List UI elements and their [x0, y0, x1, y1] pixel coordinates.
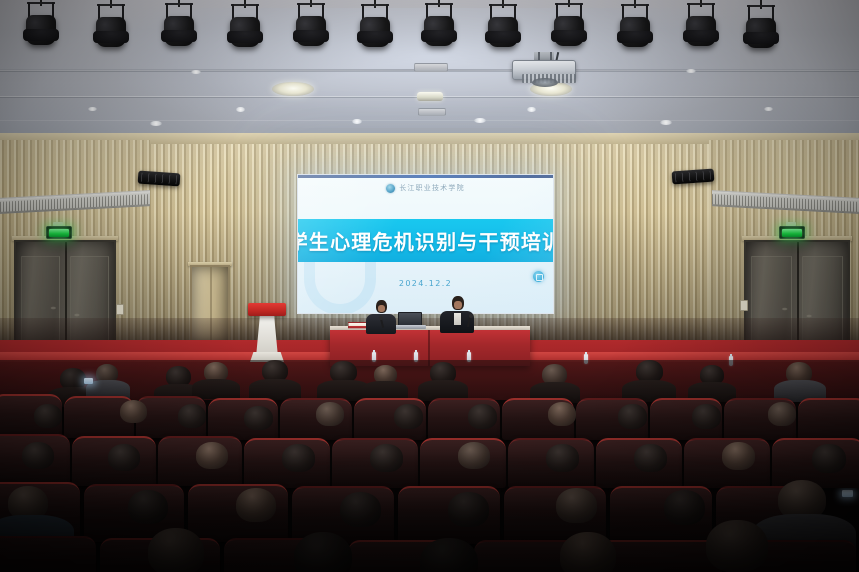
auditorium-photo: 长江职业技术学院 学生心理危机识别与干预培训 2024.12.2 — [0, 0, 859, 572]
audience-member — [706, 520, 768, 572]
light-bar — [621, 4, 649, 6]
presenter-laptop — [398, 312, 422, 326]
audience-member — [192, 379, 240, 399]
exit-sign-glow — [49, 229, 69, 237]
audience-member — [34, 404, 62, 428]
light-hood — [293, 30, 329, 42]
light-bar — [489, 4, 517, 6]
speaker-face — [454, 301, 462, 309]
projection-screen: 长江职业技术学院 学生心理危机识别与干预培训 2024.12.2 — [297, 174, 554, 314]
light-bar — [97, 4, 125, 6]
audience-member — [128, 490, 168, 524]
projector-lens — [532, 78, 558, 87]
light-hood — [551, 30, 587, 42]
audience-member — [22, 442, 54, 469]
stage-spotlight — [356, 4, 394, 52]
microphone-head — [379, 316, 383, 320]
light-hood — [227, 31, 263, 43]
ceiling-vent — [418, 108, 446, 116]
stage-spotlight — [682, 3, 720, 51]
presentation-slide: 长江职业技术学院 学生心理危机识别与干预培训 2024.12.2 — [298, 175, 553, 313]
audience-member — [340, 492, 381, 527]
light-bar — [297, 3, 325, 5]
stage-spotlight — [616, 4, 654, 52]
audience-member — [458, 442, 490, 469]
ceiling-downlight — [236, 107, 245, 112]
audience-member — [634, 444, 667, 472]
light-hood — [421, 30, 457, 42]
emergency-exit-sign-right — [779, 226, 805, 239]
screen-glare — [298, 175, 553, 313]
ceiling-downlight — [474, 118, 486, 123]
light-bar — [425, 3, 453, 5]
ceiling-downlight — [660, 120, 672, 125]
laptop-base — [394, 325, 426, 329]
audience-member — [236, 488, 276, 522]
audience-seat — [600, 540, 722, 572]
ceiling-vent — [414, 63, 448, 72]
audience-member — [768, 402, 796, 426]
speaker-face — [378, 305, 385, 312]
wall-switch[interactable] — [116, 304, 124, 315]
ceiling-projector — [508, 52, 580, 82]
audience-member — [370, 444, 403, 472]
audience-member — [244, 406, 273, 430]
audience-member — [618, 404, 647, 429]
stage-spotlight — [292, 3, 330, 51]
light-hood — [93, 31, 129, 43]
audience-member — [448, 492, 489, 527]
audience-member — [692, 404, 721, 429]
light-hood — [485, 31, 521, 43]
audience-member — [394, 404, 423, 429]
audience-member — [196, 442, 228, 469]
audience-seating-area — [0, 360, 859, 572]
audience-member — [282, 444, 315, 472]
light-hood — [23, 29, 59, 41]
stage-spotlight — [484, 4, 522, 52]
ceiling-downlight — [150, 121, 162, 126]
stage-spotlight — [420, 3, 458, 51]
light-bar — [687, 3, 715, 5]
light-hood — [617, 31, 653, 43]
stage-spotlight — [160, 3, 198, 51]
audience-member — [108, 444, 140, 471]
wall-switch[interactable] — [740, 300, 748, 311]
audience-member — [812, 444, 846, 473]
light-hood — [743, 32, 779, 44]
audience-seat — [798, 398, 859, 440]
ceiling-downlight — [352, 119, 362, 124]
microphone-head — [469, 314, 473, 318]
ceiling-seam — [0, 120, 859, 121]
stage-spotlight — [742, 5, 780, 53]
audience-member — [548, 402, 576, 426]
audience-member — [560, 532, 616, 572]
phone-screen-glow — [84, 378, 93, 384]
audience-member — [664, 490, 705, 525]
audience-seat — [0, 536, 96, 572]
audience-member — [468, 404, 497, 429]
stage-spotlight — [22, 2, 60, 50]
audience-member — [249, 379, 301, 400]
stage-spotlight — [550, 3, 588, 51]
audience-member — [546, 444, 579, 472]
exit-sign-glow — [782, 229, 802, 237]
audience-member — [178, 404, 206, 428]
ceiling-downlight — [191, 70, 201, 74]
ceiling-downlight — [88, 107, 97, 111]
podium-top-cloth — [248, 303, 286, 316]
audience-member — [316, 402, 344, 426]
audience-member — [722, 442, 755, 470]
audience-member — [148, 528, 204, 572]
phone-screen-glow — [842, 490, 853, 497]
light-bar — [165, 3, 193, 5]
emergency-exit-sign-left — [46, 226, 72, 239]
ceiling-light — [272, 82, 314, 96]
light-hood — [683, 30, 719, 42]
light-bar — [27, 2, 55, 4]
light-bar — [747, 5, 775, 7]
projector-body — [512, 60, 576, 80]
stage-spotlight — [92, 4, 130, 52]
audience-member — [294, 532, 352, 572]
ceiling-light — [417, 92, 443, 101]
ceiling-downlight — [527, 107, 536, 112]
light-bar — [231, 4, 259, 6]
light-bar — [555, 3, 583, 5]
speaker-shirt — [454, 313, 461, 325]
light-hood — [161, 30, 197, 42]
audience-member — [120, 400, 147, 423]
light-hood — [357, 31, 393, 43]
ceiling-downlight — [764, 107, 773, 111]
light-bar — [361, 4, 389, 6]
ceiling-downlight — [686, 69, 696, 73]
audience-member — [556, 488, 597, 523]
stage-spotlight — [226, 4, 264, 52]
